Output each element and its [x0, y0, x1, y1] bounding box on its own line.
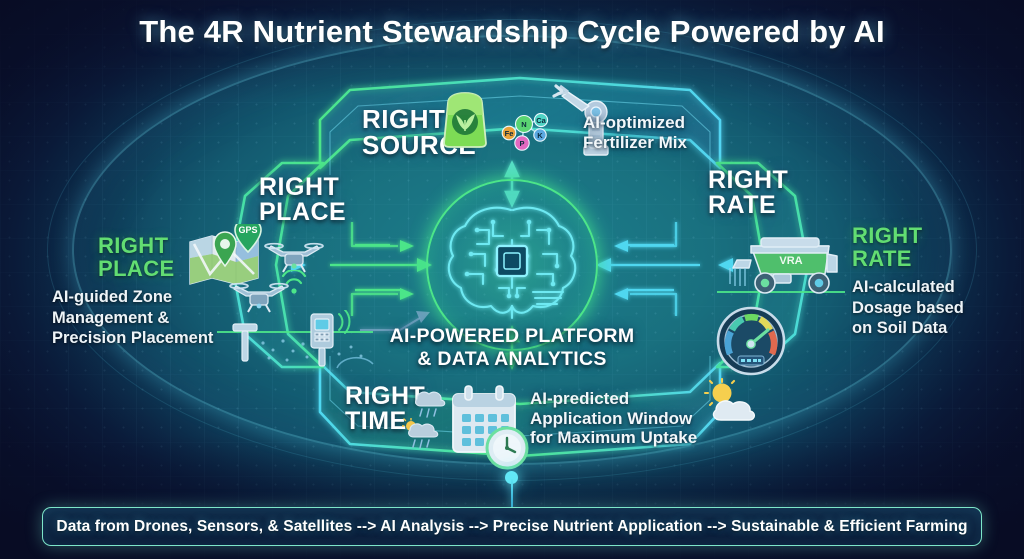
arc-desc-right-time-line2: Application Window: [530, 409, 705, 429]
callout-left-title: RIGHT PLACE: [98, 235, 175, 280]
callout-left-title-line2: PLACE: [98, 258, 175, 281]
arc-desc-right-source-line2: Fertilizer Mix: [583, 133, 733, 153]
arc-desc-right-time-line1: AI-predicted: [530, 389, 705, 409]
callout-right-title-line2: RATE: [852, 248, 922, 271]
callout-left-desc-line1: AI-guided Zone: [52, 287, 232, 308]
arc-desc-right-source: AI-optimized Fertilizer Mix: [583, 113, 733, 152]
arc-label-right-place: RIGHT PLACE: [259, 175, 346, 225]
molecule-label-1: P: [519, 139, 524, 148]
vra-spreader-icon: VRA: [715, 226, 847, 308]
molecule-label-4: Fe: [505, 129, 514, 138]
bottom-banner-text: Data from Drones, Sensors, & Satellites …: [56, 518, 967, 536]
vehicle-badge-vra: VRA: [779, 255, 802, 267]
svg-text:GPS: GPS: [238, 225, 257, 235]
arc-desc-right-source-line1: AI-optimized: [583, 113, 733, 133]
sensor-tablet-icon: [311, 314, 333, 366]
fertilizer-bag-icon: [438, 89, 492, 151]
callout-left-desc-line3: Precision Placement: [52, 328, 232, 349]
callout-right-desc: AI-calculated Dosage based on Soil Data: [852, 277, 1020, 339]
gauge-icon: [712, 304, 790, 378]
circuit-brain-icon: [437, 196, 587, 328]
callout-right-desc-line2: Dosage based: [852, 298, 1020, 319]
clock-icon: [487, 428, 527, 468]
arc-label-right-place-line2: PLACE: [259, 200, 346, 225]
arrows-right-inbound: [610, 222, 700, 316]
callout-right-title: RIGHT RATE: [852, 225, 922, 270]
spray-lines-icon: [730, 268, 745, 286]
callout-right-desc-line3: on Soil Data: [852, 318, 1020, 339]
calendar-icon: [445, 382, 539, 474]
arc-label-right-rate: RIGHT RATE: [708, 168, 788, 218]
molecule-label-3: Ca: [536, 116, 546, 125]
callout-right-desc-line1: AI-calculated: [852, 277, 1020, 298]
arc-label-right-rate-line1: RIGHT: [708, 168, 788, 193]
cpu-chip-icon: [497, 246, 527, 276]
molecule-label-2: K: [537, 131, 543, 140]
core-label-line2: & DATA ANALYTICS: [0, 348, 1024, 371]
spreader-wheels-icon: [755, 273, 829, 293]
bottom-banner: Data from Drones, Sensors, & Satellites …: [42, 507, 982, 546]
callout-right-title-line1: RIGHT: [852, 225, 922, 248]
soil-sensor-icon: [215, 310, 375, 372]
arc-desc-right-time: AI-predicted Application Window for Maxi…: [530, 389, 705, 448]
banner-connector-line: [511, 479, 513, 507]
callout-left-desc-line2: Management &: [52, 308, 232, 329]
arc-label-right-rate-line2: RATE: [708, 193, 788, 218]
molecule-label-0: N: [521, 120, 526, 129]
sun-rain-cloud-icon: [402, 418, 442, 452]
arc-desc-right-time-line3: for Maximum Uptake: [530, 428, 705, 448]
infographic-canvas: The 4R Nutrient Stewardship Cycle Powere…: [0, 0, 1024, 559]
callout-left-title-line1: RIGHT: [98, 235, 175, 258]
sun-cloud-icon: [696, 378, 758, 426]
callout-left-desc: AI-guided Zone Management & Precision Pl…: [52, 287, 232, 349]
arc-label-right-place-line1: RIGHT: [259, 175, 346, 200]
